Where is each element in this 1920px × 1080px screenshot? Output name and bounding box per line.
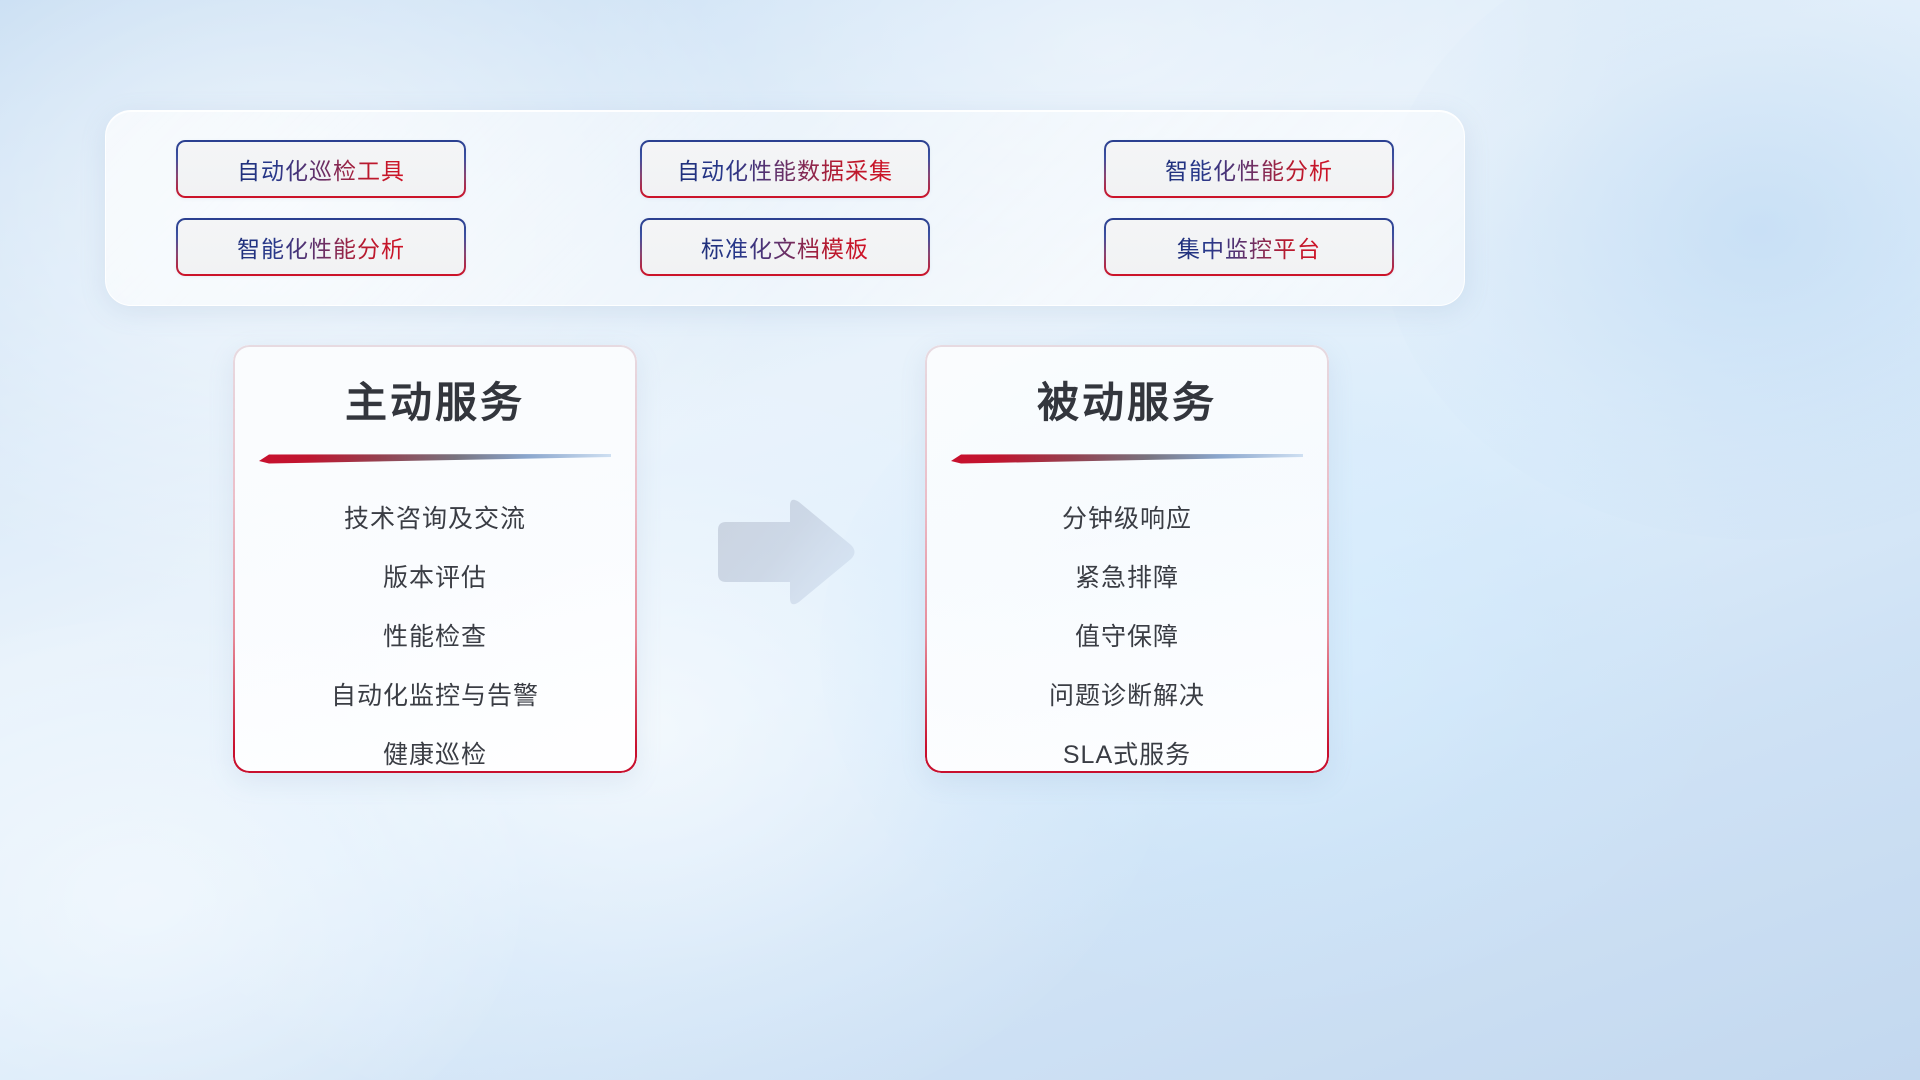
title-divider xyxy=(259,452,611,464)
active-service-list: 技术咨询及交流 版本评估 性能检查 自动化监控与告警 健康巡检 xyxy=(233,490,637,773)
passive-service-title: 被动服务 xyxy=(925,369,1329,430)
capability-chip-label: 智能化性能分析 xyxy=(237,230,405,264)
active-service-title: 主动服务 xyxy=(233,369,637,430)
capability-chip[interactable]: 自动化巡检工具 xyxy=(176,140,466,198)
capability-chip[interactable]: 智能化性能分析 xyxy=(1104,140,1394,198)
capability-chip-label: 自动化巡检工具 xyxy=(237,152,405,186)
list-item: 分钟级响应 xyxy=(925,490,1329,549)
capability-row: 智能化性能分析 标准化文档模板 集中监控平台 xyxy=(176,218,1394,276)
arrow-right-icon xyxy=(712,496,858,608)
list-item: 健康巡检 xyxy=(233,726,637,773)
capability-chip[interactable]: 自动化性能数据采集 xyxy=(640,140,930,198)
capability-chip-label: 集中监控平台 xyxy=(1177,230,1321,264)
active-service-card: 主动服务 技术咨询及交流 版本评估 性能检查 xyxy=(233,345,637,773)
list-item: 问题诊断解决 xyxy=(925,667,1329,726)
list-item: 性能检查 xyxy=(233,608,637,667)
diagram-canvas: 自动化巡检工具 自动化性能数据采集 智能化性能分析 智能化性能分析 标准化文档模… xyxy=(0,0,1920,1080)
capability-chip-label: 自动化性能数据采集 xyxy=(677,152,893,186)
title-divider xyxy=(951,452,1303,464)
capability-chip-label: 智能化性能分析 xyxy=(1165,152,1333,186)
list-item: 自动化监控与告警 xyxy=(233,667,637,726)
capabilities-panel: 自动化巡检工具 自动化性能数据采集 智能化性能分析 智能化性能分析 标准化文档模… xyxy=(105,110,1465,306)
passive-service-list: 分钟级响应 紧急排障 值守保障 问题诊断解决 SLA式服务 xyxy=(925,490,1329,773)
capability-chip[interactable]: 智能化性能分析 xyxy=(176,218,466,276)
list-item: 技术咨询及交流 xyxy=(233,490,637,549)
capability-chip[interactable]: 标准化文档模板 xyxy=(640,218,930,276)
list-item: 值守保障 xyxy=(925,608,1329,667)
capability-row: 自动化巡检工具 自动化性能数据采集 智能化性能分析 xyxy=(176,140,1394,198)
list-item: 版本评估 xyxy=(233,549,637,608)
capability-chip[interactable]: 集中监控平台 xyxy=(1104,218,1394,276)
list-item: 紧急排障 xyxy=(925,549,1329,608)
passive-service-card: 被动服务 分钟级响应 紧急排障 值守保障 xyxy=(925,345,1329,773)
capability-chip-label: 标准化文档模板 xyxy=(701,230,869,264)
list-item: SLA式服务 xyxy=(925,726,1329,773)
